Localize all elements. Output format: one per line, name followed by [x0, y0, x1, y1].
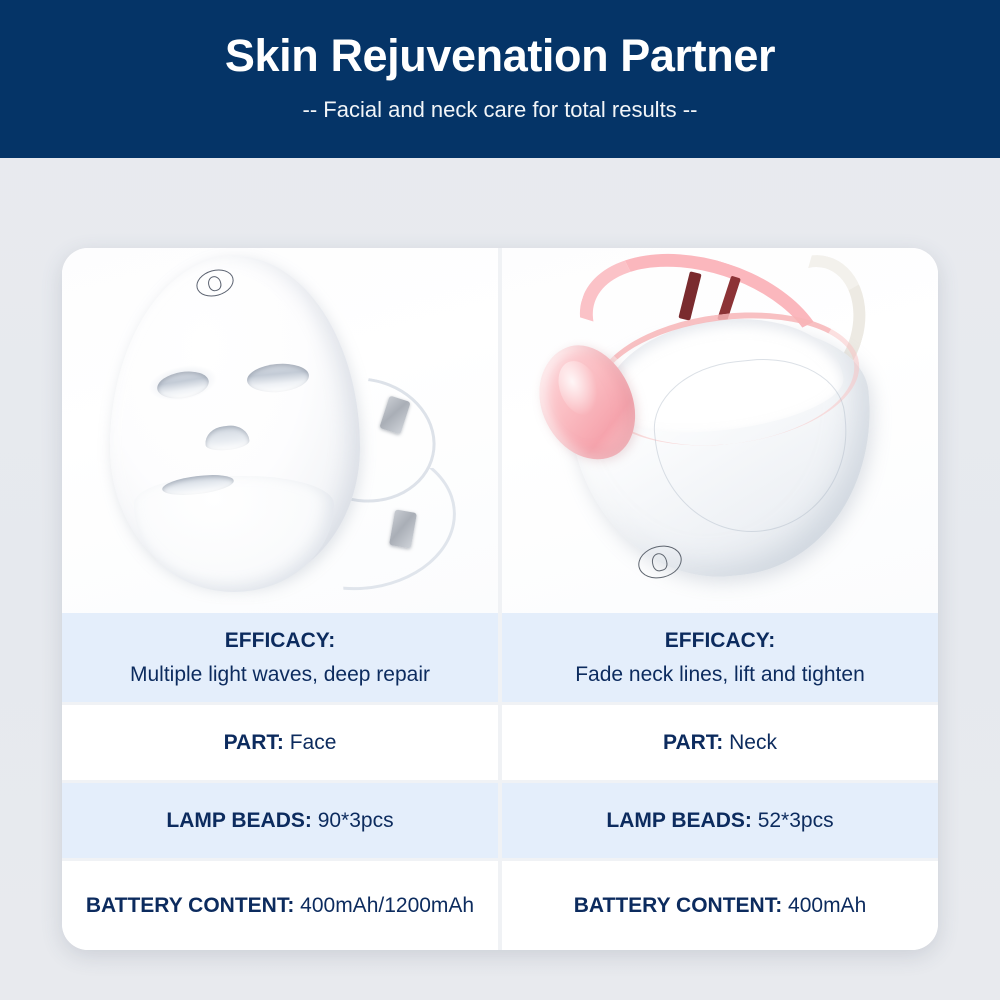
- spec-value-battery-content: 400mAh: [788, 894, 866, 917]
- spec-row-lamp-beads: LAMP BEADS: 52*3pcs: [502, 783, 938, 861]
- spec-label-part: PART:: [663, 731, 729, 754]
- spec-label-part: PART:: [224, 731, 290, 754]
- product-column-neck-device: EFFICACY: Fade neck lines, lift and tigh…: [502, 248, 938, 950]
- product-column-face-mask: EFFICACY: Multiple light waves, deep rep…: [62, 248, 502, 950]
- spec-row-battery-content: BATTERY CONTENT: 400mAh/1200mAh: [62, 861, 498, 950]
- spec-label-lamp-beads: LAMP BEADS:: [606, 809, 757, 832]
- spec-label-efficacy: EFFICACY:: [665, 627, 775, 655]
- page-subtitle: -- Facial and neck care for total result…: [303, 96, 698, 124]
- spec-row-battery-content: BATTERY CONTENT: 400mAh: [502, 861, 938, 950]
- face-mask-chin-panel: [134, 476, 334, 592]
- spec-row-part: PART: Face: [62, 705, 498, 783]
- spec-row-efficacy: EFFICACY: Fade neck lines, lift and tigh…: [502, 613, 938, 705]
- face-mask-illustration: [62, 248, 498, 613]
- spec-value-battery-content: 400mAh/1200mAh: [300, 894, 474, 917]
- spec-label-battery-content: BATTERY CONTENT:: [86, 894, 300, 917]
- spec-value-lamp-beads: 90*3pcs: [318, 809, 394, 832]
- page-header-banner: Skin Rejuvenation Partner -- Facial and …: [0, 0, 1000, 158]
- product-photo-face-mask: [62, 248, 498, 613]
- spec-label-battery-content: BATTERY CONTENT:: [574, 894, 788, 917]
- product-photo-neck-device: [502, 248, 938, 613]
- spec-label-lamp-beads: LAMP BEADS:: [166, 809, 317, 832]
- product-comparison-page: Skin Rejuvenation Partner -- Facial and …: [0, 0, 1000, 1000]
- spec-value-part: Face: [290, 731, 337, 754]
- spec-value-lamp-beads: 52*3pcs: [758, 809, 834, 832]
- page-title: Skin Rejuvenation Partner: [225, 30, 775, 82]
- neck-device-illustration: [502, 248, 938, 613]
- spec-row-part: PART: Neck: [502, 705, 938, 783]
- spec-value-efficacy: Fade neck lines, lift and tighten: [575, 661, 865, 689]
- comparison-card: EFFICACY: Multiple light waves, deep rep…: [62, 248, 938, 950]
- spec-label-efficacy: EFFICACY:: [225, 627, 335, 655]
- spec-row-efficacy: EFFICACY: Multiple light waves, deep rep…: [62, 613, 498, 705]
- spec-row-lamp-beads: LAMP BEADS: 90*3pcs: [62, 783, 498, 861]
- spec-value-part: Neck: [729, 731, 777, 754]
- spec-value-efficacy: Multiple light waves, deep repair: [130, 661, 430, 689]
